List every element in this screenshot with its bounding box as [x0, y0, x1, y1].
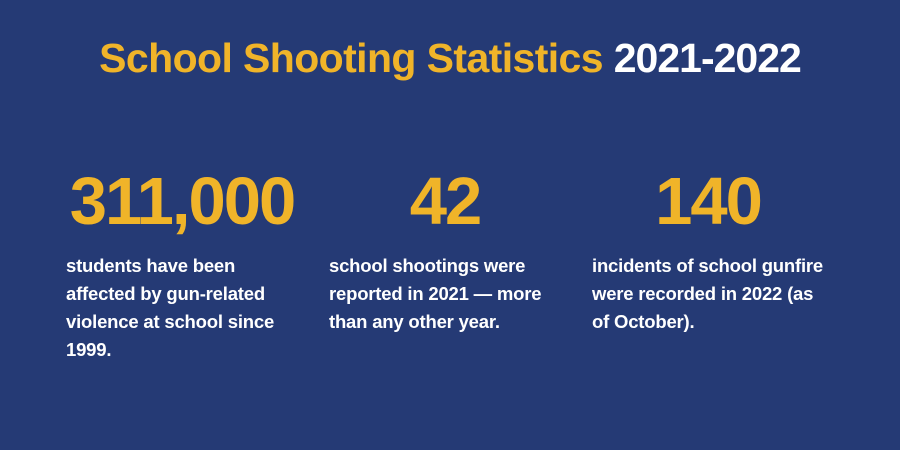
- stat-block-gunfire-2022: 140 incidents of school gunfire were rec…: [592, 168, 824, 336]
- infographic-card: School Shooting Statistics 2021-2022 311…: [0, 0, 900, 450]
- stat-number: 42: [329, 168, 561, 234]
- statistics-group: 311,000 students have been affected by g…: [66, 168, 846, 364]
- stat-block-students-affected: 311,000 students have been affected by g…: [66, 168, 298, 364]
- stat-description: school shootings were reported in 2021 —…: [329, 252, 561, 336]
- stat-number: 140: [592, 168, 824, 234]
- stat-description: students have been affected by gun-relat…: [66, 252, 298, 364]
- stat-number: 311,000: [66, 168, 298, 234]
- title-highlight-text: School Shooting Statistics: [99, 35, 614, 81]
- page-title: School Shooting Statistics 2021-2022: [0, 38, 900, 79]
- stat-description: incidents of school gunfire were recorde…: [592, 252, 824, 336]
- title-year-range: 2021-2022: [614, 35, 801, 81]
- stat-block-shootings-2021: 42 school shootings were reported in 202…: [329, 168, 561, 336]
